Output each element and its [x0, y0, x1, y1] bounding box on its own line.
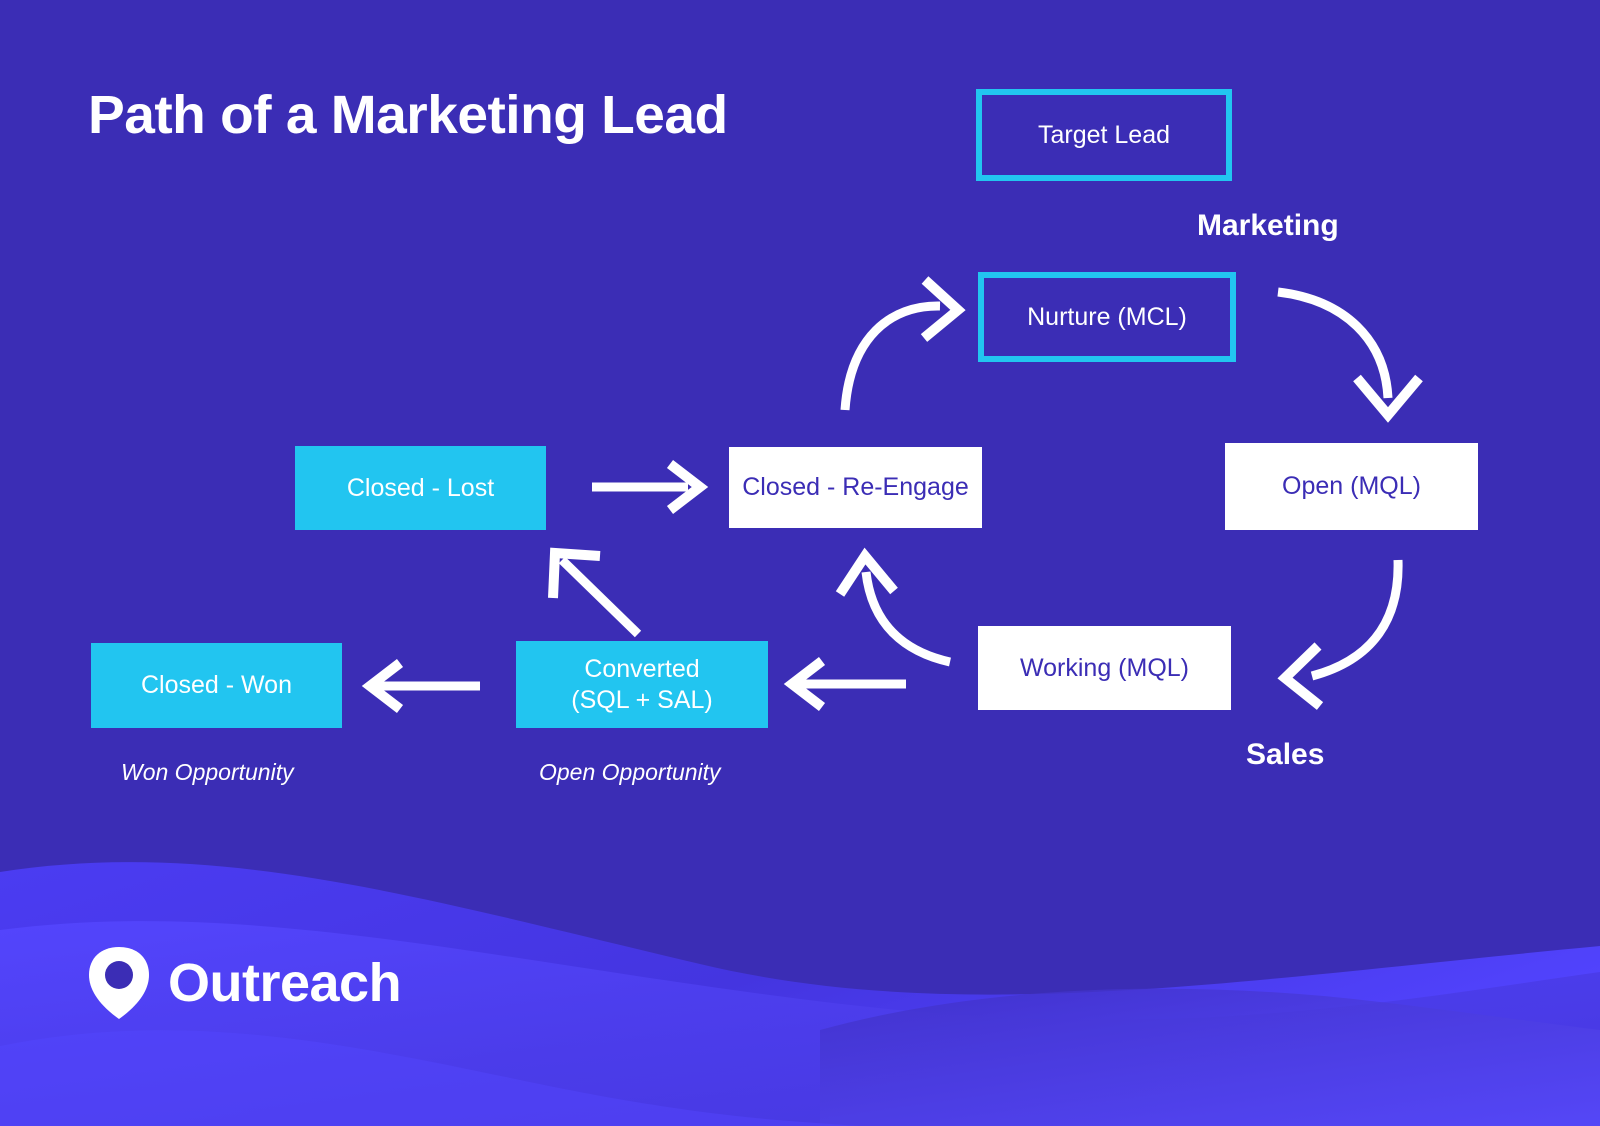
- section-label-sales: Sales: [1246, 738, 1324, 772]
- logo-wordmark: Outreach: [168, 956, 401, 1010]
- arrow-closed-lost-to-closed-re-engage: [592, 464, 700, 510]
- caption-won-opportunity: Won Opportunity: [121, 759, 294, 786]
- node-closed-re-engage[interactable]: Closed - Re-Engage: [729, 447, 982, 528]
- node-working-mql[interactable]: Working (MQL): [978, 626, 1231, 710]
- node-open-mql[interactable]: Open (MQL): [1225, 443, 1478, 530]
- arrow-working-mql-to-closed-re-engage: [840, 556, 950, 662]
- node-converted[interactable]: Converted (SQL + SAL): [516, 641, 768, 728]
- node-nurture[interactable]: Nurture (MCL): [978, 272, 1236, 362]
- node-closed-won[interactable]: Closed - Won: [91, 643, 342, 728]
- node-target-lead[interactable]: Target Lead: [976, 89, 1232, 181]
- node-closed-lost[interactable]: Closed - Lost: [295, 446, 546, 530]
- diagram-canvas: Path of a Marketing Lead Marketing Sales: [0, 0, 1600, 1126]
- arrow-closed-re-engage-to-nurture: [845, 280, 958, 410]
- caption-open-opportunity: Open Opportunity: [539, 759, 721, 786]
- arrow-converted-to-closed-won: [370, 663, 480, 709]
- arrow-marketing-to-open-mql: [1278, 292, 1419, 415]
- outreach-logo[interactable]: Outreach: [88, 946, 401, 1020]
- arrow-working-mql-to-converted: [792, 661, 906, 707]
- page-title: Path of a Marketing Lead: [88, 84, 728, 146]
- arrow-open-mql-to-working-mql: [1285, 560, 1398, 706]
- arrow-converted-to-closed-lost: [553, 553, 638, 634]
- section-label-marketing: Marketing: [1197, 209, 1339, 243]
- outreach-pin-icon: [88, 946, 150, 1020]
